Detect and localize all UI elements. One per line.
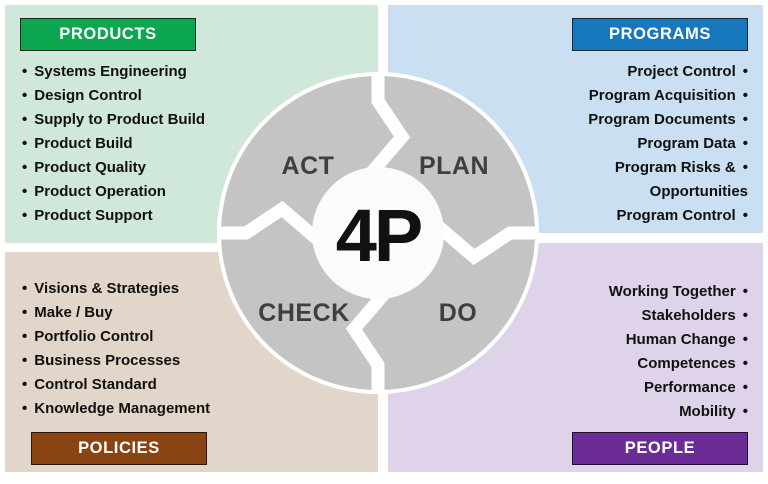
bullet-list-products: •Systems Engineering •Design Control •Su… <box>22 60 205 228</box>
list-item: Program Documents• <box>588 108 748 132</box>
wheel-segment-label-do: DO <box>439 299 478 327</box>
list-item: Project Control• <box>588 60 748 84</box>
diagram-canvas: PRODUCTS PROGRAMS POLICIES PEOPLE •Syste… <box>0 0 768 484</box>
list-item: •Product Build <box>22 132 205 156</box>
list-item-label: Systems Engineering <box>34 63 187 80</box>
bullet-glyph: • <box>22 397 27 421</box>
list-item: Working Together• <box>609 280 748 304</box>
bullet-glyph: • <box>22 277 27 301</box>
bullet-list-policies: •Visions & Strategies •Make / Buy •Portf… <box>22 277 210 421</box>
list-item: •Supply to Product Build <box>22 108 205 132</box>
list-item-label: Knowledge Management <box>34 400 210 417</box>
list-item: Competences• <box>609 352 748 376</box>
pdca-wheel-svg: ACT PLAN CHECK DO 4P <box>216 71 540 395</box>
list-item-label: Product Operation <box>34 183 166 200</box>
bullet-glyph: • <box>22 373 27 397</box>
list-item-label: Stakeholders <box>642 307 736 324</box>
bullet-glyph: • <box>22 325 27 349</box>
heading-badge-people: PEOPLE <box>572 432 748 465</box>
list-item-label: Control Standard <box>34 376 157 393</box>
list-item: •Systems Engineering <box>22 60 205 84</box>
list-item: Human Change• <box>609 328 748 352</box>
bullet-glyph: • <box>22 84 27 108</box>
list-item-label: Performance <box>644 379 736 396</box>
bullet-glyph: • <box>22 60 27 84</box>
bullet-glyph: • <box>743 328 748 352</box>
list-item-label: Working Together <box>609 283 736 300</box>
list-item: •Product Support <box>22 204 205 228</box>
list-item-label: Program Acquisition <box>589 87 736 104</box>
list-item-label: Program Data <box>637 135 735 152</box>
list-item: •Visions & Strategies <box>22 277 210 301</box>
heading-badge-programs: PROGRAMS <box>572 18 748 51</box>
list-item-label: Business Processes <box>34 352 180 369</box>
list-item: •Product Operation <box>22 180 205 204</box>
list-item: •Product Quality <box>22 156 205 180</box>
list-item: Program Acquisition• <box>588 84 748 108</box>
list-item-label: Product Quality <box>34 159 146 176</box>
bullet-glyph: • <box>22 132 27 156</box>
list-item: Program Risks &• Opportunities <box>588 156 748 204</box>
bullet-glyph: • <box>743 352 748 376</box>
bullet-glyph: • <box>22 301 27 325</box>
bullet-glyph: • <box>743 304 748 328</box>
bullet-glyph: • <box>743 280 748 304</box>
wheel-segment-label-act: ACT <box>282 152 335 180</box>
bullet-glyph: • <box>743 376 748 400</box>
bullet-glyph: • <box>743 204 748 228</box>
list-item: •Control Standard <box>22 373 210 397</box>
bullet-glyph: • <box>22 349 27 373</box>
list-item: •Portfolio Control <box>22 325 210 349</box>
bullet-list-people: Working Together• Stakeholders• Human Ch… <box>609 280 748 424</box>
list-item: Mobility• <box>609 400 748 424</box>
bullet-glyph: • <box>743 156 748 180</box>
list-item: •Knowledge Management <box>22 397 210 421</box>
list-item: Stakeholders• <box>609 304 748 328</box>
list-item-label: Human Change <box>626 331 736 348</box>
bullet-glyph: • <box>22 108 27 132</box>
list-item-label: Mobility <box>679 403 736 420</box>
list-item-label: Portfolio Control <box>34 328 153 345</box>
pdca-wheel: ACT PLAN CHECK DO 4P <box>216 71 540 395</box>
list-item-label: Competences <box>637 355 735 372</box>
bullet-glyph: • <box>743 84 748 108</box>
list-item-label: Design Control <box>34 87 142 104</box>
bullet-glyph: • <box>743 60 748 84</box>
list-item-label: Project Control <box>627 63 735 80</box>
list-item: Performance• <box>609 376 748 400</box>
list-item: •Make / Buy <box>22 301 210 325</box>
heading-badge-policies: POLICIES <box>31 432 207 465</box>
list-item: Program Data• <box>588 132 748 156</box>
list-item: Program Control• <box>588 204 748 228</box>
list-item-label: Product Support <box>34 207 152 224</box>
wheel-segment-label-check: CHECK <box>258 299 349 327</box>
bullet-glyph: • <box>743 400 748 424</box>
list-item-continuation: Opportunities <box>588 180 748 204</box>
list-item-label: Visions & Strategies <box>34 280 179 297</box>
list-item-label: Product Build <box>34 135 132 152</box>
bullet-glyph: • <box>22 156 27 180</box>
heading-badge-products: PRODUCTS <box>20 18 196 51</box>
bullet-glyph: • <box>743 132 748 156</box>
list-item-label: Program Risks & <box>615 159 736 176</box>
list-item-label: Make / Buy <box>34 304 112 321</box>
bullet-glyph: • <box>22 204 27 228</box>
list-item-label: Supply to Product Build <box>34 111 205 128</box>
list-item-label: Program Documents <box>588 111 736 128</box>
wheel-segment-label-plan: PLAN <box>419 152 489 180</box>
bullet-glyph: • <box>743 108 748 132</box>
list-item-label: Program Control <box>617 207 736 224</box>
list-item: •Business Processes <box>22 349 210 373</box>
bullet-list-programs: Project Control• Program Acquisition• Pr… <box>588 60 748 228</box>
logo-4p-text: 4P <box>336 194 421 277</box>
list-item: •Design Control <box>22 84 205 108</box>
bullet-glyph: • <box>22 180 27 204</box>
